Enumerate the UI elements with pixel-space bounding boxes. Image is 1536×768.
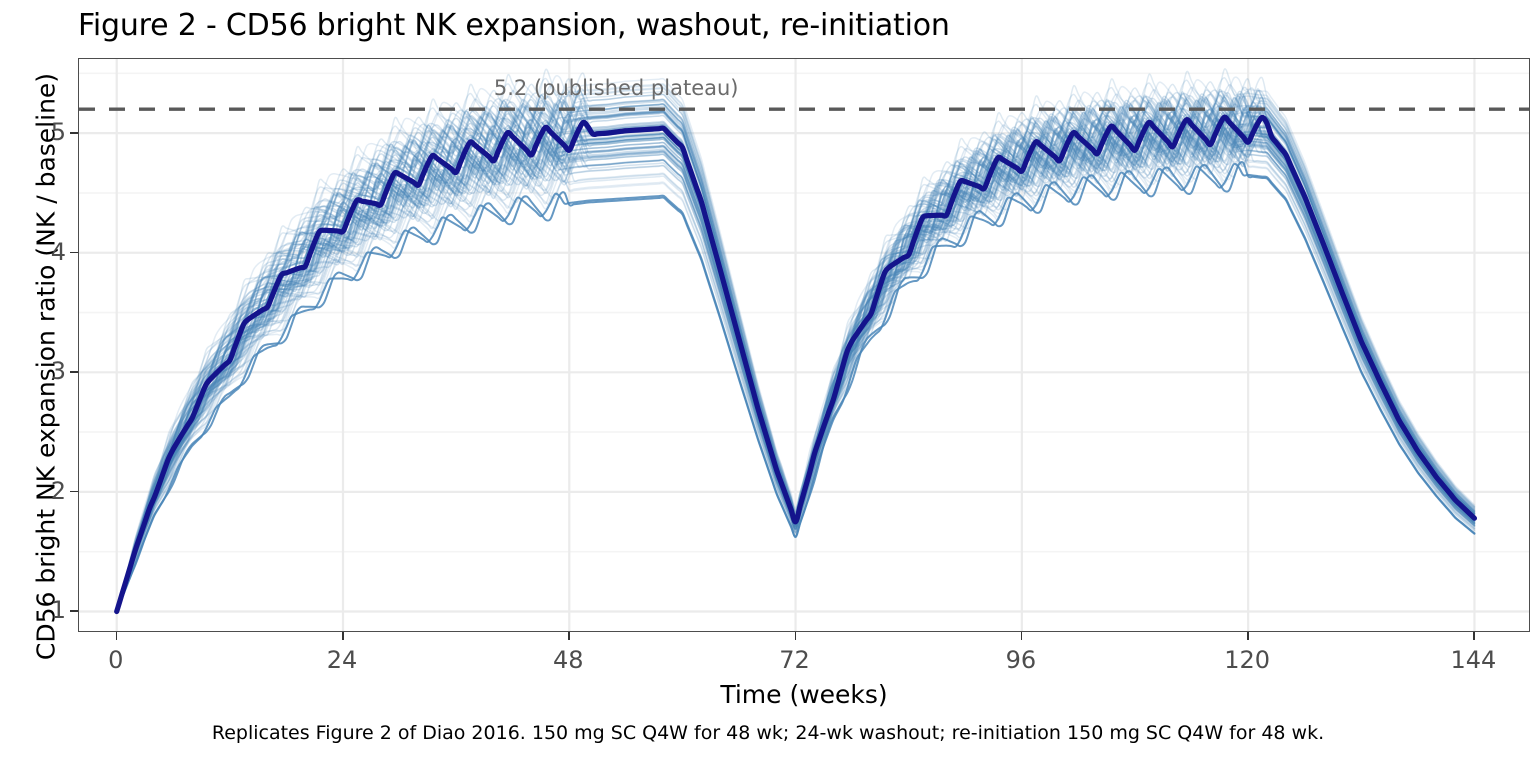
figure-caption: Replicates Figure 2 of Diao 2016. 150 mg… <box>0 722 1536 744</box>
page-title: Figure 2 - CD56 bright NK expansion, was… <box>78 8 950 43</box>
x-tick-label: 0 <box>76 646 156 674</box>
x-tick-label: 120 <box>1207 646 1287 674</box>
y-tick-mark <box>70 371 78 373</box>
y-tick-mark <box>70 132 78 134</box>
x-tick-mark <box>568 632 570 640</box>
y-tick-label: 4 <box>18 238 66 266</box>
plot-panel: 5.2 (published plateau) <box>78 58 1530 632</box>
y-tick-label: 2 <box>18 477 66 505</box>
x-tick-mark <box>1021 632 1023 640</box>
x-tick-mark <box>1473 632 1475 640</box>
y-tick-label: 5 <box>18 118 66 146</box>
x-tick-mark <box>795 632 797 640</box>
y-tick-mark <box>70 491 78 493</box>
x-tick-label: 96 <box>981 646 1061 674</box>
plot-svg <box>79 59 1530 632</box>
x-tick-label: 48 <box>528 646 608 674</box>
plateau-annotation: 5.2 (published plateau) <box>494 76 739 100</box>
y-tick-label: 3 <box>18 357 66 385</box>
major-gridlines <box>79 59 1530 632</box>
x-tick-label: 72 <box>755 646 835 674</box>
x-tick-mark <box>1247 632 1249 640</box>
y-tick-label: 1 <box>18 596 66 624</box>
x-tick-label: 144 <box>1433 646 1513 674</box>
x-tick-label: 24 <box>302 646 382 674</box>
y-tick-mark <box>70 610 78 612</box>
y-tick-mark <box>70 252 78 254</box>
x-tick-mark <box>342 632 344 640</box>
figure-container: Figure 2 - CD56 bright NK expansion, was… <box>0 0 1536 768</box>
x-tick-mark <box>116 632 118 640</box>
x-axis-title: Time (weeks) <box>78 680 1530 709</box>
